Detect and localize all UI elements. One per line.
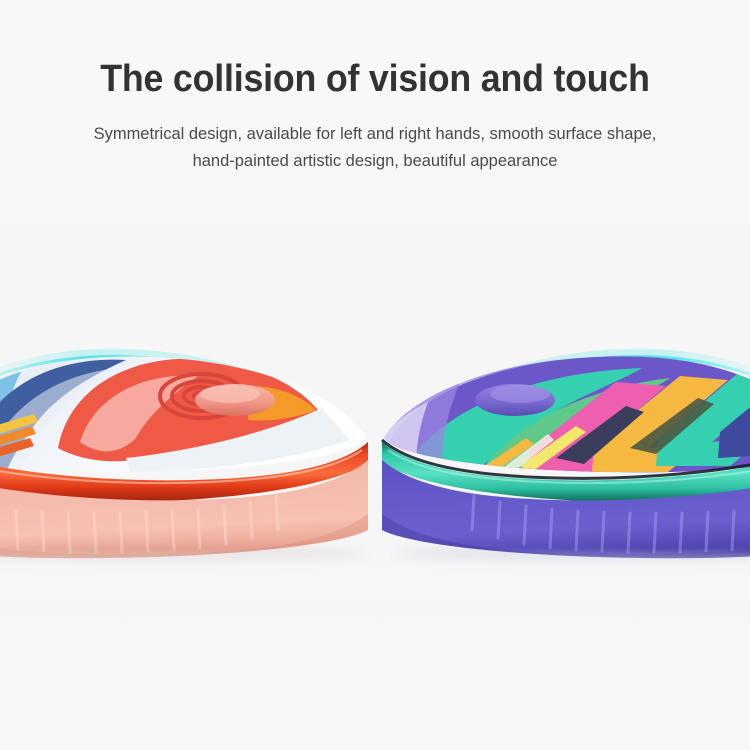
floor-fade [0, 548, 750, 598]
page-title: The collision of vision and touch [23, 56, 728, 102]
text-block: The collision of vision and touch Symmet… [0, 0, 750, 174]
product-feature-banner: The collision of vision and touch Symmet… [0, 0, 750, 750]
scroll-wheel-icon [195, 384, 275, 416]
subtitle-line-2: hand-painted artistic design, beautiful … [193, 151, 558, 170]
right-mouse-artwork [380, 356, 750, 480]
subtitle-line-1: Symmetrical design, available for left a… [94, 124, 657, 143]
page-subtitle: Symmetrical design, available for left a… [36, 120, 715, 174]
scroll-wheel-icon [475, 384, 555, 416]
left-mouse-product-image [0, 330, 370, 580]
right-mouse-product-image [380, 330, 750, 580]
